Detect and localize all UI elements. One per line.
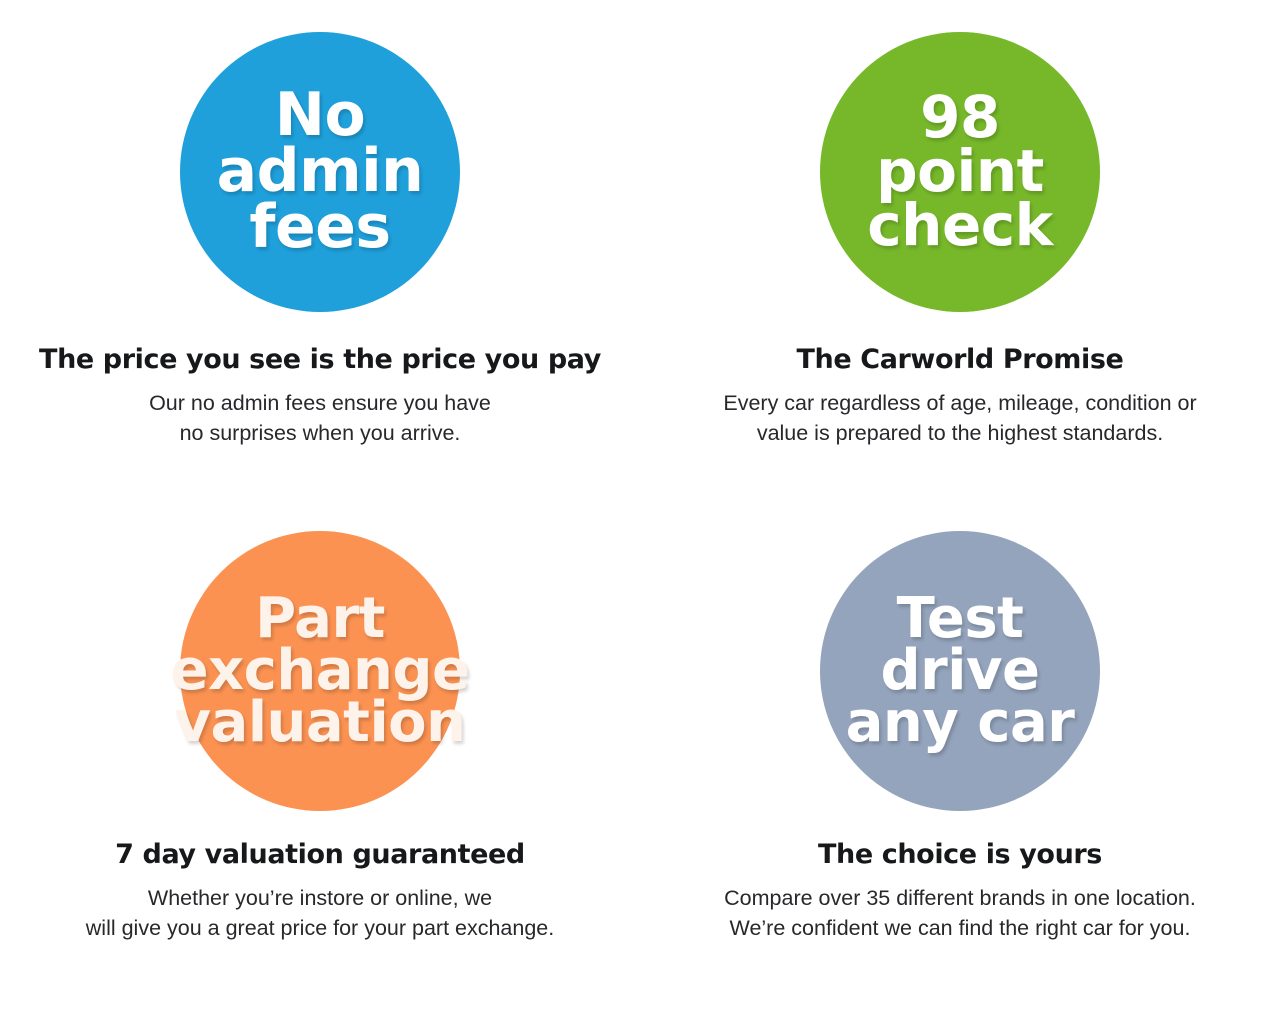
badge-line: valuation bbox=[175, 697, 466, 749]
feature-heading: The choice is yours bbox=[654, 839, 1266, 870]
feature-text: The Carworld Promise Every car regardles… bbox=[640, 312, 1280, 448]
feature-card-test-drive-any-car: Test drive any car The choice is yours C… bbox=[640, 512, 1280, 1024]
feature-card-98-point-check: 98 point check The Carworld Promise Ever… bbox=[640, 0, 1280, 512]
feature-text: The choice is yours Compare over 35 diff… bbox=[640, 811, 1280, 943]
feature-heading: The price you see is the price you pay bbox=[14, 344, 626, 375]
badge-line: fees bbox=[249, 200, 390, 256]
feature-heading: The Carworld Promise bbox=[654, 344, 1266, 375]
feature-text: The price you see is the price you pay O… bbox=[0, 312, 640, 448]
feature-text: 7 day valuation guaranteed Whether you’r… bbox=[0, 811, 640, 943]
feature-body: Whether you’re instore or online, we wil… bbox=[14, 883, 626, 943]
circle-badge-orange-icon: Part exchange valuation bbox=[180, 531, 460, 811]
feature-heading: 7 day valuation guaranteed bbox=[14, 839, 626, 870]
badge-line: check bbox=[867, 199, 1052, 253]
circle-badge-green-icon: 98 point check bbox=[820, 32, 1100, 312]
feature-card-no-admin-fees: No admin fees The price you see is the p… bbox=[0, 0, 640, 512]
feature-body: Compare over 35 different brands in one … bbox=[654, 883, 1266, 943]
feature-body: Our no admin fees ensure you have no sur… bbox=[14, 388, 626, 448]
circle-badge-grey-icon: Test drive any car bbox=[820, 531, 1100, 811]
circle-badge-blue-icon: No admin fees bbox=[180, 32, 460, 312]
badge-line: any car bbox=[846, 697, 1075, 749]
feature-card-part-exchange-valuation: Part exchange valuation 7 day valuation … bbox=[0, 512, 640, 1024]
features-grid: No admin fees The price you see is the p… bbox=[0, 0, 1280, 1024]
feature-body: Every car regardless of age, mileage, co… bbox=[654, 388, 1266, 448]
